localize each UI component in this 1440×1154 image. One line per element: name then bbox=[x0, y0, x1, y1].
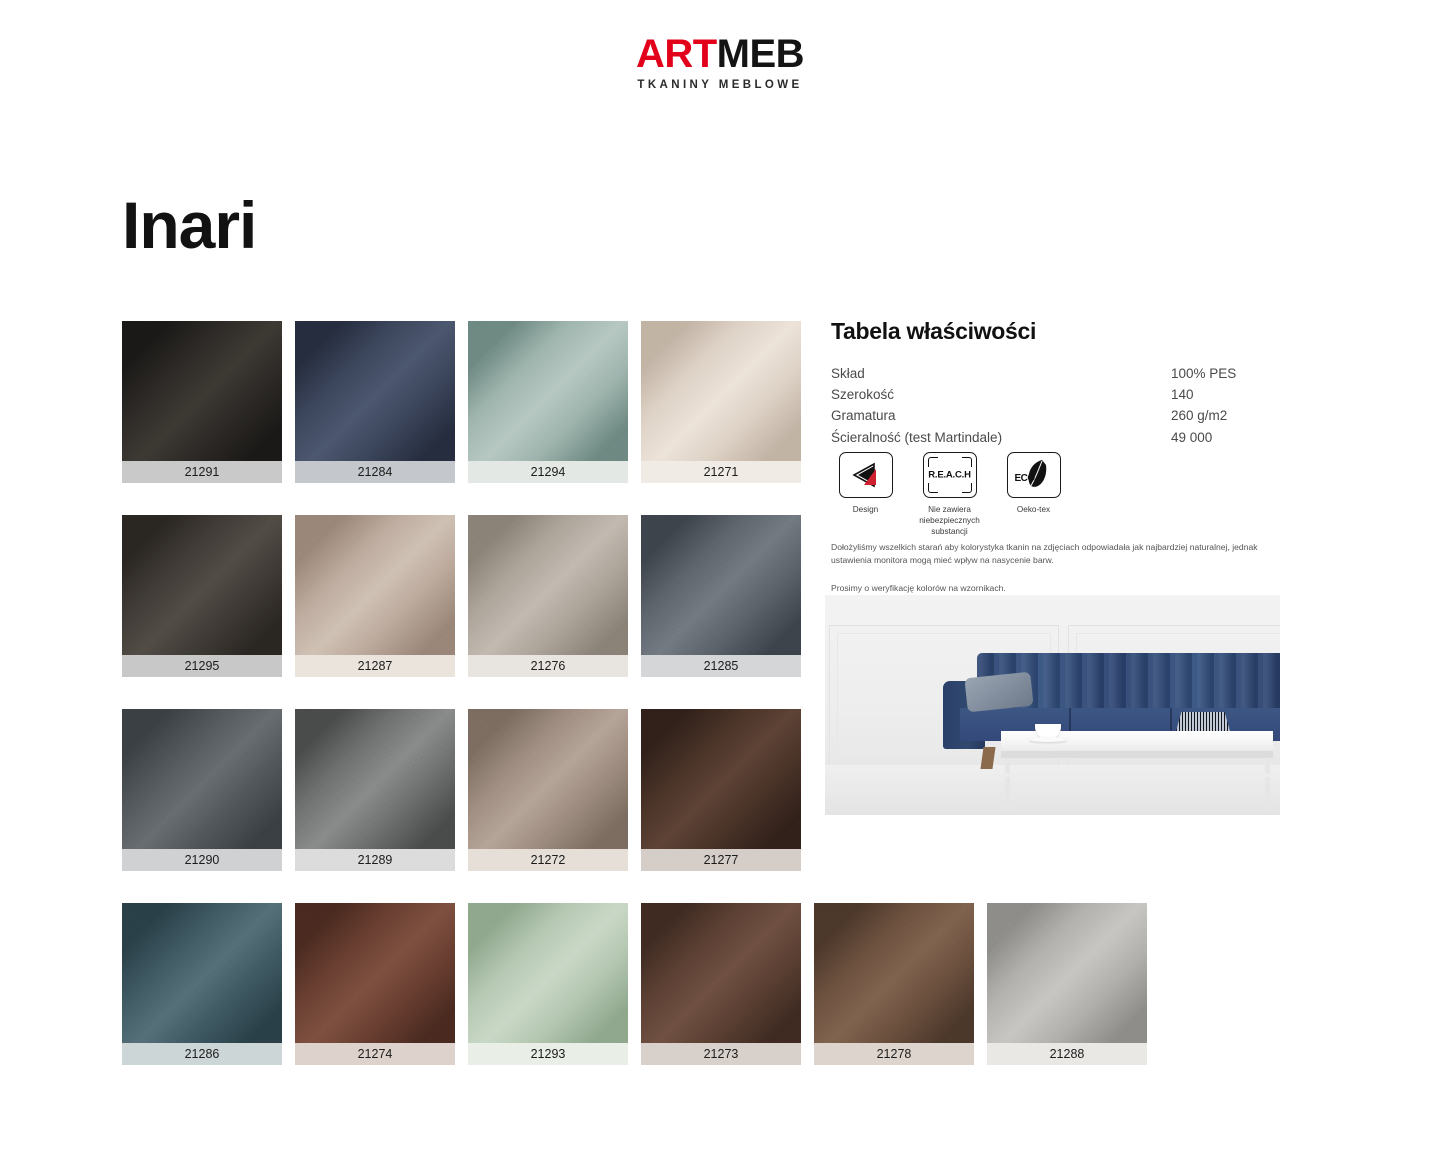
properties-panel: Tabela właściwości Skład100% PESSzerokoś… bbox=[831, 318, 1281, 450]
brand-logo: ARTMEB TKANINY MEBLOWE bbox=[0, 34, 1440, 91]
swatch-21294[interactable]: 21294 bbox=[468, 321, 628, 483]
badge-oekotex: ECO Oeko-tex bbox=[1001, 452, 1066, 537]
swatch-fabric-image bbox=[122, 515, 282, 655]
swatch-fabric-image bbox=[987, 903, 1147, 1043]
swatch-21291[interactable]: 21291 bbox=[122, 321, 282, 483]
swatch-code-label: 21278 bbox=[814, 1043, 974, 1065]
swatch-fabric-image bbox=[468, 709, 628, 849]
swatch-code-label: 21288 bbox=[987, 1043, 1147, 1065]
swatch-fabric-image bbox=[641, 515, 801, 655]
swatch-fabric-image bbox=[295, 709, 455, 849]
property-value: 100% PES bbox=[1171, 365, 1281, 386]
swatch-code-label: 21277 bbox=[641, 849, 801, 871]
swatch-21276[interactable]: 21276 bbox=[468, 515, 628, 677]
swatch-21290[interactable]: 21290 bbox=[122, 709, 282, 871]
swatch-code-label: 21295 bbox=[122, 655, 282, 677]
swatch-21285[interactable]: 21285 bbox=[641, 515, 801, 677]
photo-table-rail bbox=[1005, 773, 1271, 777]
property-label: Szerokość bbox=[831, 386, 1171, 407]
property-value: 260 g/m2 bbox=[1171, 407, 1281, 428]
swatch-fabric-image bbox=[641, 321, 801, 461]
swatch-fabric-image bbox=[641, 709, 801, 849]
property-value: 49 000 bbox=[1171, 429, 1281, 450]
eco-label: ECO bbox=[1015, 473, 1035, 484]
swatch-21278[interactable]: 21278 bbox=[814, 903, 974, 1065]
swatch-code-label: 21291 bbox=[122, 461, 282, 483]
badge-oekotex-caption: Oeko-tex bbox=[1001, 504, 1066, 515]
swatch-fabric-image bbox=[468, 321, 628, 461]
photo-table-leg bbox=[1005, 755, 1010, 813]
swatch-21288[interactable]: 21288 bbox=[987, 903, 1147, 1065]
property-label: Gramatura bbox=[831, 407, 1171, 428]
interior-photo bbox=[825, 595, 1280, 815]
swatch-code-label: 21294 bbox=[468, 461, 628, 483]
property-row: Skład100% PES bbox=[831, 365, 1281, 386]
swatch-fabric-image bbox=[122, 709, 282, 849]
property-row: Ścieralność (test Martindale)49 000 bbox=[831, 429, 1281, 450]
photo-table-edge bbox=[1001, 751, 1273, 758]
disclaimer-paragraph-2: Prosimy o weryfikację kolorów na wzornik… bbox=[831, 582, 1283, 595]
certification-badges: Design R.E.A.C.H Nie zawiera niebezpiecz… bbox=[833, 452, 1066, 537]
swatch-21284[interactable]: 21284 bbox=[295, 321, 455, 483]
swatch-21286[interactable]: 21286 bbox=[122, 903, 282, 1065]
property-row: Szerokość140 bbox=[831, 386, 1281, 407]
swatch-code-label: 21273 bbox=[641, 1043, 801, 1065]
swatch-code-label: 21272 bbox=[468, 849, 628, 871]
swatch-fabric-image bbox=[641, 903, 801, 1043]
page-title: Inari bbox=[122, 192, 256, 258]
swatch-code-label: 21285 bbox=[641, 655, 801, 677]
swatch-fabric-image bbox=[814, 903, 974, 1043]
swatch-21293[interactable]: 21293 bbox=[468, 903, 628, 1065]
swatch-code-label: 21286 bbox=[122, 1043, 282, 1065]
swatch-code-label: 21290 bbox=[122, 849, 282, 871]
brand-wordmark: ARTMEB bbox=[0, 34, 1440, 74]
swatch-21273[interactable]: 21273 bbox=[641, 903, 801, 1065]
badge-design-caption: Design bbox=[833, 504, 898, 515]
properties-table: Skład100% PESSzerokość140Gramatura260 g/… bbox=[831, 365, 1281, 450]
swatch-fabric-image bbox=[122, 321, 282, 461]
photo-table-leg bbox=[1265, 755, 1270, 813]
badge-reach-caption: Nie zawiera niebezpiecznych substancji bbox=[917, 504, 982, 537]
property-label: Skład bbox=[831, 365, 1171, 386]
swatch-code-label: 21289 bbox=[295, 849, 455, 871]
swatch-code-label: 21287 bbox=[295, 655, 455, 677]
brand-tagline: TKANINY MEBLOWE bbox=[0, 79, 1440, 91]
swatch-code-label: 21276 bbox=[468, 655, 628, 677]
swatch-21274[interactable]: 21274 bbox=[295, 903, 455, 1065]
swatch-21271[interactable]: 21271 bbox=[641, 321, 801, 483]
swatch-fabric-image bbox=[295, 515, 455, 655]
swatch-code-label: 21274 bbox=[295, 1043, 455, 1065]
swatch-21287[interactable]: 21287 bbox=[295, 515, 455, 677]
swatch-fabric-image bbox=[295, 903, 455, 1043]
swatch-code-label: 21271 bbox=[641, 461, 801, 483]
swatch-21289[interactable]: 21289 bbox=[295, 709, 455, 871]
brand-name-meb: MEB bbox=[717, 32, 804, 76]
color-disclaimer: Dołożyliśmy wszelkich starań aby kolorys… bbox=[831, 541, 1283, 595]
photo-cushion bbox=[964, 672, 1033, 713]
eco-leaf-icon: ECO bbox=[1007, 452, 1061, 498]
reach-icon: R.E.A.C.H bbox=[923, 452, 977, 498]
property-value: 140 bbox=[1171, 386, 1281, 407]
property-row: Gramatura260 g/m2 bbox=[831, 407, 1281, 428]
swatch-row: 212862127421293212732127821288 bbox=[122, 903, 1172, 1065]
swatch-21295[interactable]: 21295 bbox=[122, 515, 282, 677]
swatch-code-label: 21293 bbox=[468, 1043, 628, 1065]
reach-label: R.E.A.C.H bbox=[924, 470, 976, 481]
property-label: Ścieralność (test Martindale) bbox=[831, 429, 1171, 450]
design-triangle-icon bbox=[839, 452, 893, 498]
swatch-fabric-image bbox=[468, 515, 628, 655]
brand-name-art: ART bbox=[636, 32, 717, 76]
swatch-fabric-image bbox=[295, 321, 455, 461]
properties-title: Tabela właściwości bbox=[831, 318, 1281, 345]
disclaimer-paragraph-1: Dołożyliśmy wszelkich starań aby kolorys… bbox=[831, 541, 1283, 568]
swatch-fabric-image bbox=[468, 903, 628, 1043]
swatch-fabric-image bbox=[122, 903, 282, 1043]
badge-design: Design bbox=[833, 452, 898, 537]
swatch-code-label: 21284 bbox=[295, 461, 455, 483]
swatch-21272[interactable]: 21272 bbox=[468, 709, 628, 871]
swatch-21277[interactable]: 21277 bbox=[641, 709, 801, 871]
photo-saucer bbox=[1029, 737, 1067, 742]
badge-reach: R.E.A.C.H Nie zawiera niebezpiecznych su… bbox=[917, 452, 982, 537]
